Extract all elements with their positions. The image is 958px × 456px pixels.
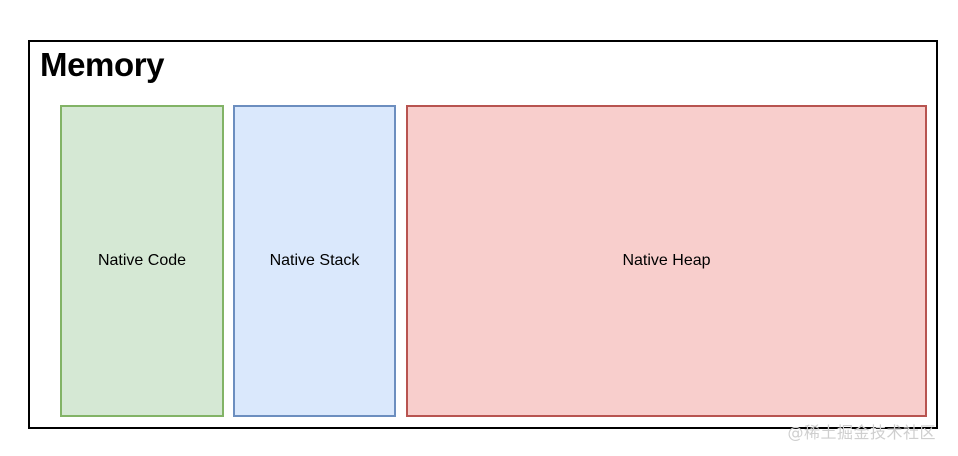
memory-region-label: Native Stack xyxy=(270,251,360,270)
memory-frame: Memory Native Code Native Stack Native H… xyxy=(28,40,938,429)
memory-region-native-stack: Native Stack xyxy=(233,105,396,417)
memory-region-native-code: Native Code xyxy=(60,105,224,417)
page-title: Memory xyxy=(40,44,164,86)
watermark: @稀土掘金技术社区 xyxy=(787,419,936,443)
memory-region-label: Native Heap xyxy=(622,251,710,270)
memory-region-label: Native Code xyxy=(98,251,186,270)
memory-region-native-heap: Native Heap xyxy=(406,105,927,417)
